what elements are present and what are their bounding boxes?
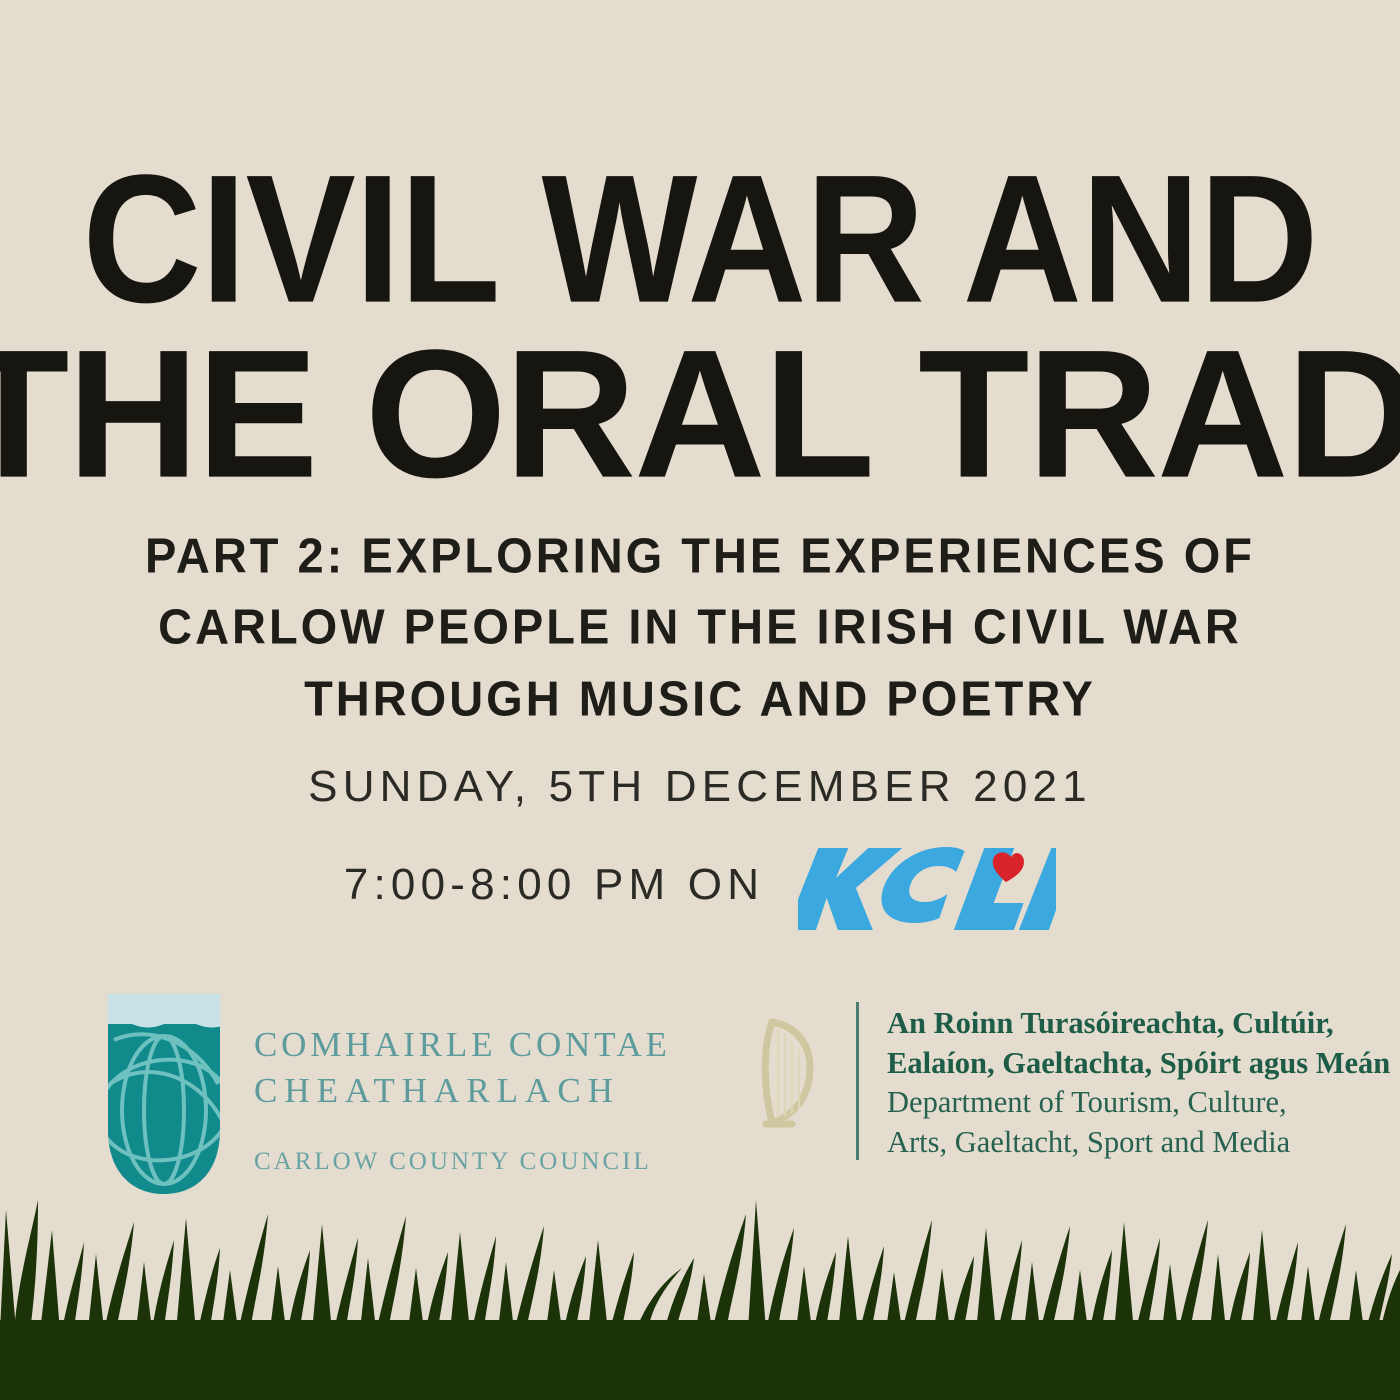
department-logo-text: An Roinn Turasóireachta, Cultúir, Ealaío… bbox=[887, 1004, 1390, 1163]
subtitle-line-1: PART 2: EXPLORING THE EXPERIENCES OF bbox=[0, 519, 1400, 593]
carlow-line-1: COMHAIRLE CONTAE bbox=[254, 1022, 671, 1068]
title-line-2: THE ORAL TRADITION bbox=[0, 325, 1400, 504]
carlow-line-2: CHEATHARLACH bbox=[254, 1068, 671, 1114]
subtitle-line-2: CARLOW PEOPLE IN THE IRISH CIVIL WAR bbox=[0, 590, 1400, 664]
poster-canvas: CIVIL WAR AND THE ORAL TRADITION PART 2:… bbox=[0, 0, 1400, 1400]
department-irish-line-2: Ealaíon, Gaeltachta, Spóirt agus Meán bbox=[887, 1044, 1390, 1084]
event-time-row: 7:00-8:00 PM ON bbox=[0, 840, 1400, 930]
logo-divider bbox=[856, 1002, 859, 1160]
poster-title: CIVIL WAR AND THE ORAL TRADITION bbox=[0, 150, 1400, 493]
harp-icon bbox=[752, 1010, 822, 1135]
title-line-1: CIVIL WAR AND bbox=[28, 150, 1372, 329]
poster-subtitle: PART 2: EXPLORING THE EXPERIENCES OF CAR… bbox=[0, 520, 1400, 734]
department-logo: An Roinn Turasóireachta, Cultúir, Ealaío… bbox=[752, 1010, 1390, 1163]
event-date: SUNDAY, 5TH DECEMBER 2021 bbox=[0, 762, 1400, 812]
department-english-line-2: Arts, Gaeltacht, Sport and Media bbox=[887, 1123, 1390, 1163]
carlow-shield-icon bbox=[100, 980, 228, 1198]
kclr-logo bbox=[798, 840, 1056, 930]
subtitle-line-3: THROUGH MUSIC AND POETRY bbox=[0, 661, 1400, 735]
event-schedule: SUNDAY, 5TH DECEMBER 2021 7:00-8:00 PM O… bbox=[0, 762, 1400, 930]
department-english-line-1: Department of Tourism, Culture, bbox=[887, 1083, 1390, 1123]
carlow-logo-text: COMHAIRLE CONTAE CHEATHARLACH CARLOW COU… bbox=[254, 980, 671, 1176]
grass-silhouette bbox=[0, 1170, 1400, 1400]
department-irish-line-1: An Roinn Turasóireachta, Cultúir, bbox=[887, 1004, 1390, 1044]
carlow-county-council-logo: COMHAIRLE CONTAE CHEATHARLACH CARLOW COU… bbox=[100, 980, 671, 1198]
event-time: 7:00-8:00 PM ON bbox=[344, 860, 764, 910]
